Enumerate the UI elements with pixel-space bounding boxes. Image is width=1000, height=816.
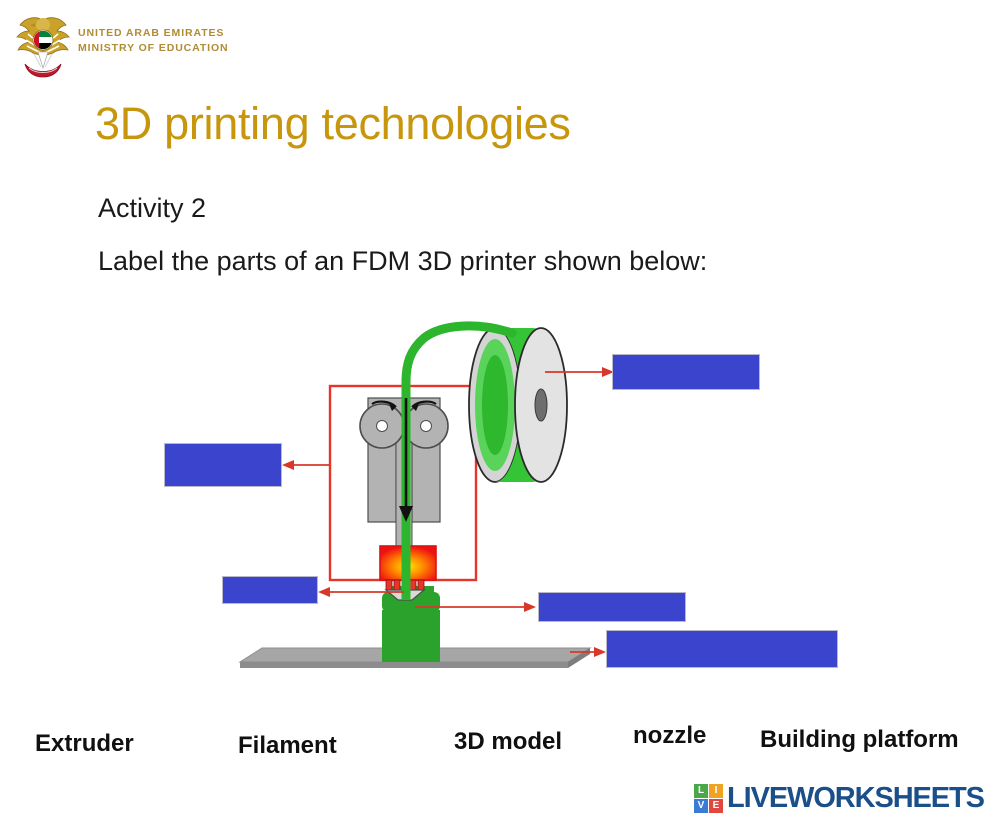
- word-nozzle[interactable]: nozzle: [633, 722, 706, 750]
- ministry-header-text: UNITED ARAB EMIRATES MINISTRY OF EDUCATI…: [78, 26, 229, 56]
- instruction-text: Label the parts of an FDM 3D printer sho…: [98, 246, 707, 277]
- answer-box-filament[interactable]: [612, 354, 760, 390]
- lw-tile-i: I: [709, 784, 723, 798]
- lw-tile-e: E: [709, 799, 723, 813]
- filament-spool-part: [469, 328, 567, 482]
- activity-label: Activity 2: [98, 193, 206, 224]
- slide-page: UNITED ARAB EMIRATES MINISTRY OF EDUCATI…: [0, 0, 1000, 816]
- header-line-2: MINISTRY OF EDUCATION: [78, 41, 229, 56]
- uae-falcon-emblem-icon: [14, 12, 72, 80]
- answer-box-nozzle[interactable]: [222, 576, 318, 604]
- liveworksheets-wordmark: LIVEWORKSHEETS: [727, 782, 984, 815]
- answer-box-building-platform[interactable]: [606, 630, 838, 668]
- word-filament[interactable]: Filament: [238, 732, 337, 760]
- page-title: 3D printing technologies: [95, 98, 571, 150]
- liveworksheets-tiles-icon: L I V E: [694, 784, 723, 813]
- lw-tile-v: V: [694, 799, 708, 813]
- word-3d-model[interactable]: 3D model: [454, 728, 562, 756]
- header-line-1: UNITED ARAB EMIRATES: [78, 26, 229, 41]
- answer-box-extruder[interactable]: [164, 443, 282, 487]
- liveworksheets-logo[interactable]: L I V E LIVEWORKSHEETS: [694, 783, 984, 813]
- fdm-3d-printer-diagram: [0, 300, 1000, 690]
- word-building-platform[interactable]: Building platform: [760, 726, 959, 754]
- lw-tile-l: L: [694, 784, 708, 798]
- word-extruder[interactable]: Extruder: [35, 730, 134, 758]
- answer-box-3d-model[interactable]: [538, 592, 686, 622]
